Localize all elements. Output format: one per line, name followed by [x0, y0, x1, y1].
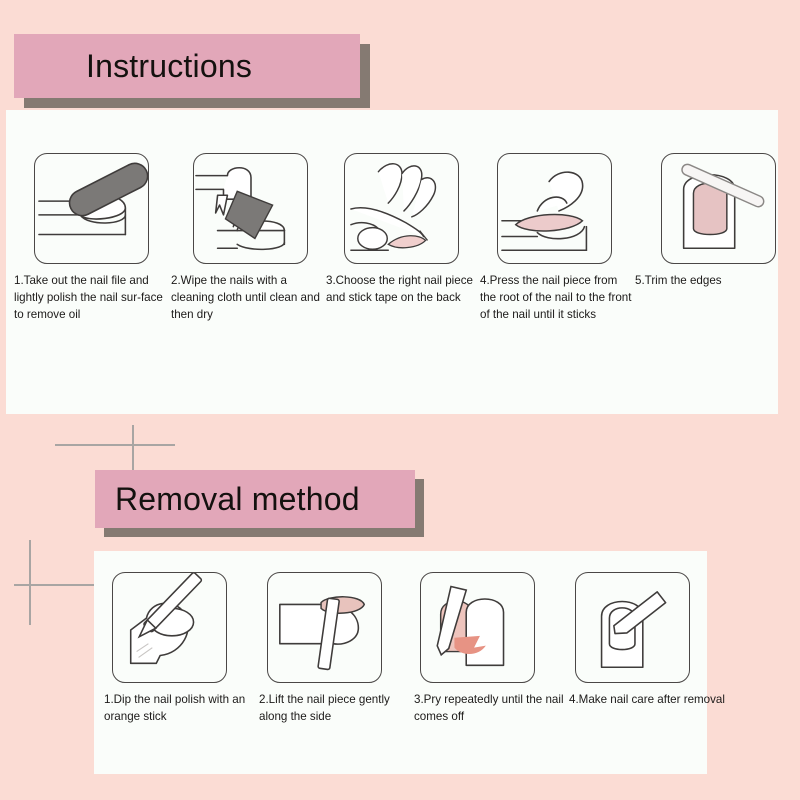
- instruction-step-1: 1.Take out the nail file and lightly pol…: [14, 153, 171, 323]
- removal-step-3-caption: 3.Pry repeatedly until the nail comes of…: [414, 691, 570, 725]
- instruction-step-2: 2.Wipe the nails with a cleaning cloth u…: [171, 153, 326, 323]
- pry-nail-icon: [420, 572, 535, 683]
- instruction-step-3-caption: 3.Choose the right nail piece and stick …: [326, 272, 482, 306]
- removal-step-2-caption: 2.Lift the nail piece gently along the s…: [259, 691, 415, 725]
- trim-edges-icon: [661, 153, 776, 264]
- removal-step-1-caption: 1.Dip the nail polish with an orange sti…: [104, 691, 260, 725]
- nail-file-polish-icon: [34, 153, 149, 264]
- instruction-step-3: 3.Choose the right nail piece and stick …: [326, 153, 480, 323]
- instruction-step-5: 5.Trim the edges: [635, 153, 775, 323]
- instruction-step-4-caption: 4.Press the nail piece from the root of …: [480, 272, 636, 323]
- lift-nail-piece-icon: [267, 572, 382, 683]
- press-nail-piece-icon: [497, 153, 612, 264]
- instruction-step-4: 4.Press the nail piece from the root of …: [480, 153, 635, 323]
- dip-orange-stick-icon: [112, 572, 227, 683]
- choose-nail-piece-icon: [344, 153, 459, 264]
- crosshair-decoration-bottom: [14, 540, 104, 625]
- removal-step-3: 3.Pry repeatedly until the nail comes of…: [414, 572, 569, 725]
- instruction-step-5-caption: 5.Trim the edges: [635, 272, 765, 289]
- removal-banner: Removal method: [95, 470, 415, 528]
- removal-step-1: 1.Dip the nail polish with an orange sti…: [104, 572, 259, 725]
- instruction-step-1-caption: 1.Take out the nail file and lightly pol…: [14, 272, 170, 323]
- nail-care-icon: [575, 572, 690, 683]
- instructions-steps: 1.Take out the nail file and lightly pol…: [14, 153, 784, 323]
- cleaning-cloth-wipe-icon: [193, 153, 308, 264]
- instructions-banner: Instructions: [14, 34, 360, 98]
- removal-steps: 1.Dip the nail polish with an orange sti…: [104, 572, 714, 725]
- instruction-step-2-caption: 2.Wipe the nails with a cleaning cloth u…: [171, 272, 327, 323]
- removal-title: Removal method: [115, 481, 360, 518]
- instructions-title: Instructions: [86, 48, 252, 85]
- removal-step-2: 2.Lift the nail piece gently along the s…: [259, 572, 414, 725]
- removal-step-4: 4.Make nail care after removal: [569, 572, 714, 725]
- removal-step-4-caption: 4.Make nail care after removal: [569, 691, 725, 708]
